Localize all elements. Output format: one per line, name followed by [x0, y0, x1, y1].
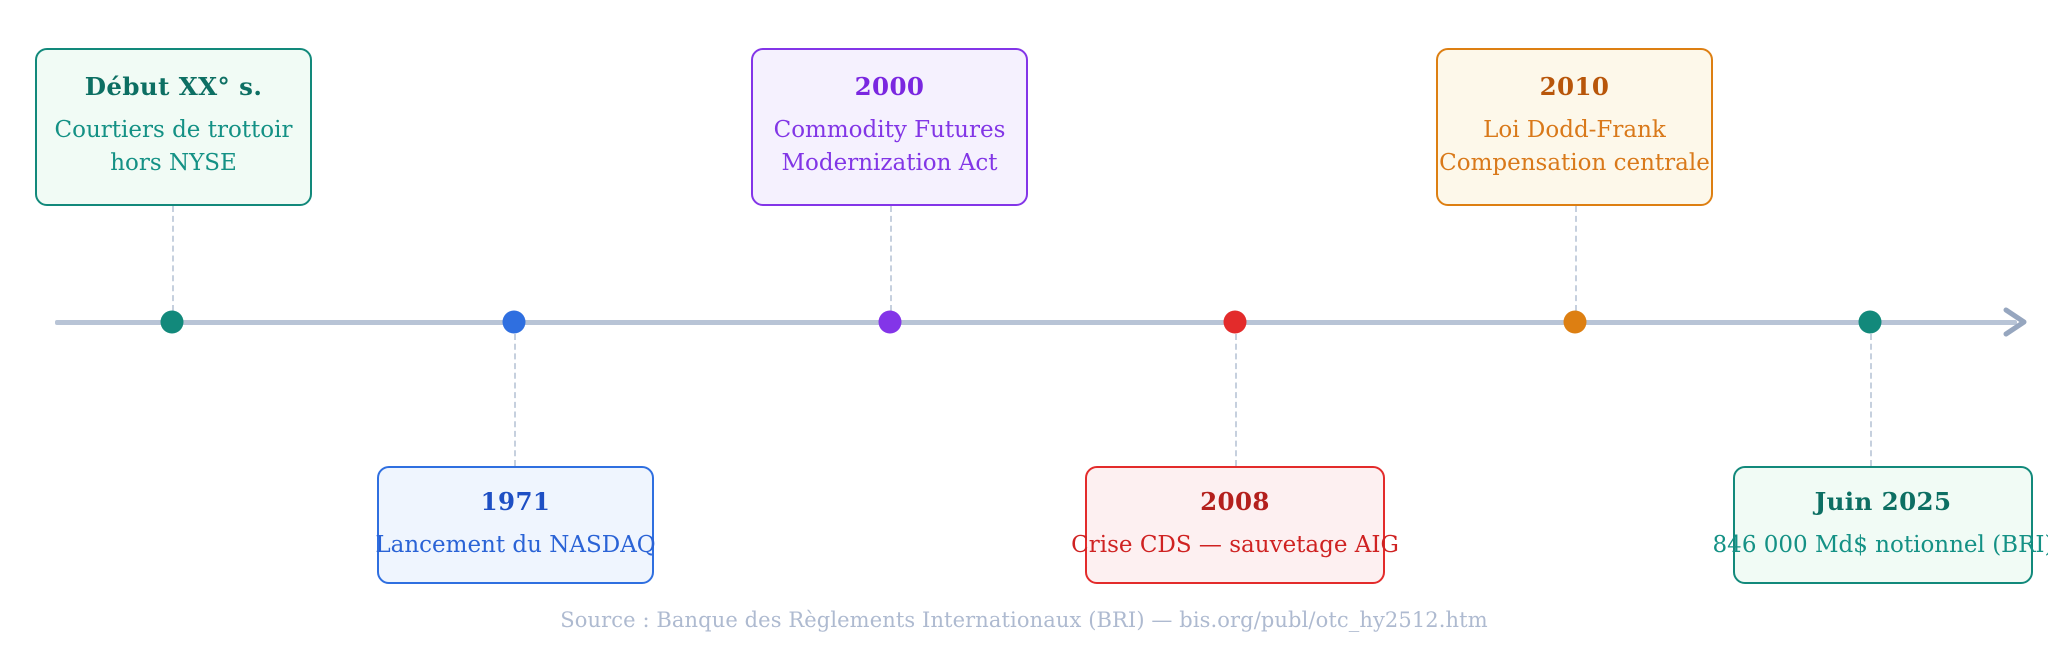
- timeline-dot-juin-2025-notionnel[interactable]: [1859, 311, 1882, 334]
- event-connector: [1575, 206, 1577, 311]
- event-title: 2010: [1540, 74, 1610, 101]
- event-description-line: Loi Dodd-Frank: [1483, 114, 1666, 147]
- event-box-2000-cfma[interactable]: 2000Commodity FuturesModernization Act: [751, 48, 1028, 206]
- event-box-2008-crise-cds[interactable]: 2008Crise CDS — sauvetage AIG: [1085, 466, 1385, 584]
- event-box-2010-dodd-frank[interactable]: 2010Loi Dodd-FrankCompensation centrale: [1436, 48, 1713, 206]
- event-description-line: Courtiers de trottoir: [55, 114, 293, 147]
- event-description-line: 846 000 Md$ notionnel (BRI): [1713, 529, 2048, 562]
- timeline-arrowhead: [1996, 300, 2040, 344]
- event-title: Début XX° s.: [85, 74, 263, 101]
- timeline-axis-line: [55, 320, 2017, 325]
- event-description-line: Lancement du NASDAQ: [375, 529, 655, 562]
- event-title: 1971: [481, 489, 551, 516]
- event-description-line: Crise CDS — sauvetage AIG: [1071, 529, 1399, 562]
- event-box-juin-2025-notionnel[interactable]: Juin 2025846 000 Md$ notionnel (BRI): [1733, 466, 2033, 584]
- event-title: Juin 2025: [1815, 489, 1952, 516]
- event-connector: [890, 206, 892, 311]
- event-connector: [1870, 334, 1872, 467]
- timeline-dot-debut-xx-siecle[interactable]: [161, 311, 184, 334]
- event-connector: [172, 206, 174, 311]
- event-description-line: hors NYSE: [110, 147, 237, 180]
- event-description-line: Compensation centrale: [1439, 147, 1710, 180]
- timeline-dot-2008-crise-cds[interactable]: [1224, 311, 1247, 334]
- timeline-dot-2000-cfma[interactable]: [879, 311, 902, 334]
- timeline-dot-1971-nasdaq[interactable]: [503, 311, 526, 334]
- timeline-diagram: Début XX° s.Courtiers de trottoirhors NY…: [0, 0, 2048, 659]
- event-title: 2008: [1200, 489, 1270, 516]
- event-description-line: Commodity Futures: [774, 114, 1006, 147]
- event-box-1971-nasdaq[interactable]: 1971Lancement du NASDAQ: [377, 466, 654, 584]
- event-box-debut-xx-siecle[interactable]: Début XX° s.Courtiers de trottoirhors NY…: [35, 48, 312, 206]
- event-description-line: Modernization Act: [781, 147, 997, 180]
- event-connector: [514, 334, 516, 467]
- event-connector: [1235, 334, 1237, 467]
- source-caption: Source : Banque des Règlements Internati…: [0, 608, 2048, 632]
- timeline-dot-2010-dodd-frank[interactable]: [1564, 311, 1587, 334]
- event-title: 2000: [855, 74, 925, 101]
